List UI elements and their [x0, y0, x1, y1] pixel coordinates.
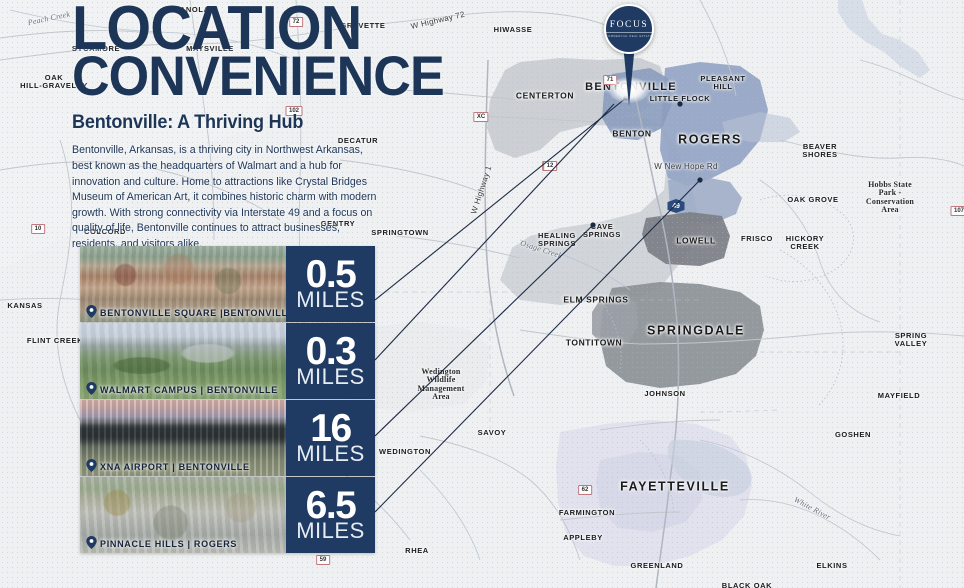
- highway-shield-icon: 10: [31, 224, 45, 234]
- distance-unit: MILES: [296, 444, 365, 464]
- focus-logo-subtitle: COMMERCIAL REAL ESTATE: [606, 32, 652, 38]
- distance-card[interactable]: XNA AIRPORT | BENTONVILLE16MILES: [80, 400, 375, 476]
- body-paragraph: Bentonville, Arkansas, is a thriving cit…: [72, 143, 382, 252]
- photo-caption: WALMART CAMPUS | BENTONVILLE: [80, 385, 286, 395]
- distance-card[interactable]: WALMART CAMPUS | BENTONVILLE0.3MILES: [80, 323, 375, 399]
- photo-caption: XNA AIRPORT | BENTONVILLE: [80, 462, 286, 472]
- highway-shield-icon: 107: [950, 206, 964, 216]
- distance-card[interactable]: BENTONVILLE SQUARE |BENTONVILLE0.5MILES: [80, 246, 375, 322]
- map-pin-icon: [86, 459, 97, 472]
- map-pin-icon: [86, 536, 97, 549]
- highway-shield-icon: 59: [316, 555, 330, 565]
- location-photo: PINNACLE HILLS | ROGERS: [80, 477, 286, 553]
- subheadline: Bentonville: A Thriving Hub: [72, 112, 452, 134]
- distance-badge: 0.3MILES: [286, 323, 375, 399]
- highway-shield-icon: XC: [473, 112, 488, 122]
- highway-shield-icon: 12: [543, 161, 557, 171]
- distance-card[interactable]: PINNACLE HILLS | ROGERS6.5MILES: [80, 477, 375, 553]
- caption-text: BENTONVILLE SQUARE |BENTONVILLE: [100, 308, 286, 318]
- distance-unit: MILES: [296, 367, 365, 387]
- headline-block: LOCATION CONVENIENCE Bentonville: A Thri…: [72, 4, 472, 252]
- location-photo: WALMART CAMPUS | BENTONVILLE: [80, 323, 286, 399]
- photo-caption: PINNACLE HILLS | ROGERS: [80, 539, 286, 549]
- caption-text: XNA AIRPORT | BENTONVILLE: [100, 462, 250, 472]
- highway-shield-icon: 62: [578, 485, 592, 495]
- map-pin-icon: [86, 382, 97, 395]
- caption-text: WALMART CAMPUS | BENTONVILLE: [100, 385, 278, 395]
- distance-badge: 16MILES: [286, 400, 375, 476]
- distance-card-list: BENTONVILLE SQUARE |BENTONVILLE0.5MILESW…: [80, 246, 375, 554]
- focus-logo-badge: FOCUS COMMERCIAL REAL ESTATE: [604, 4, 654, 54]
- focus-logo-word: FOCUS: [610, 21, 649, 31]
- map-pin-icon: [86, 305, 97, 318]
- distance-badge: 0.5MILES: [286, 246, 375, 322]
- caption-text: PINNACLE HILLS | ROGERS: [100, 539, 237, 549]
- distance-badge: 6.5MILES: [286, 477, 375, 553]
- location-photo: XNA AIRPORT | BENTONVILLE: [80, 400, 286, 476]
- headline-line-2: CONVENIENCE: [72, 54, 444, 99]
- distance-unit: MILES: [296, 521, 365, 541]
- distance-unit: MILES: [296, 290, 365, 310]
- location-photo: BENTONVILLE SQUARE |BENTONVILLE: [80, 246, 286, 322]
- photo-caption: BENTONVILLE SQUARE |BENTONVILLE: [80, 308, 286, 318]
- focus-logo-pin[interactable]: FOCUS COMMERCIAL REAL ESTATE: [604, 4, 654, 54]
- location-convenience-infographic: INDIANOLAGRAVETTEHIWASSESYCAMOREMAYSVILL…: [0, 0, 964, 588]
